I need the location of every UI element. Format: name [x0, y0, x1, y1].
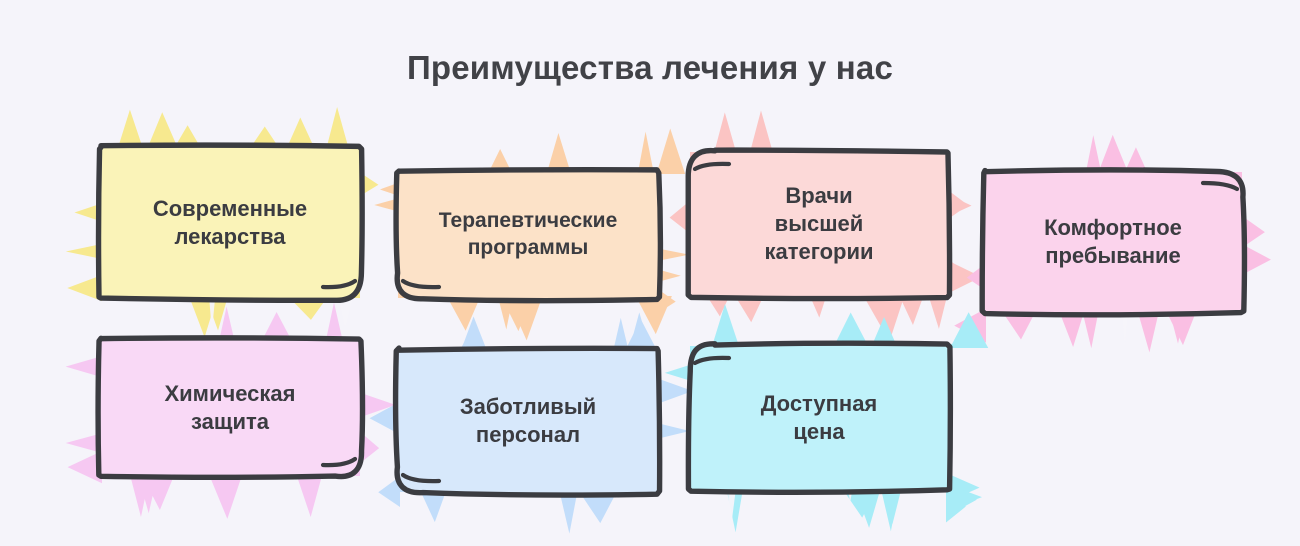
card-frame-dostupnaya-tsena: [686, 342, 952, 494]
benefit-card-vrachi-vysshey-kategorii[interactable]: Врачи высшей категории: [686, 148, 952, 300]
page-title: Преимущества лечения у нас: [0, 48, 1300, 88]
card-frame-terapevticheskie-programmy: [394, 168, 662, 302]
benefit-card-himicheskaya-zashchita[interactable]: Химическая защита: [96, 336, 364, 480]
benefit-card-dostupnaya-tsena[interactable]: Доступная цена: [686, 342, 952, 494]
card-frame-komfortnoe-prebyvanie: [980, 168, 1246, 316]
benefit-card-komfortnoe-prebyvanie[interactable]: Комфортное пребывание: [980, 168, 1246, 316]
benefit-card-terapevticheskie-programmy[interactable]: Терапевтические программы: [394, 168, 662, 302]
card-frame-sovremennye-lekarstva: [96, 144, 364, 302]
card-frame-vrachi-vysshey-kategorii: [686, 148, 952, 300]
card-frame-himicheskaya-zashchita: [96, 336, 364, 480]
card-frame-zabotlivyy-personal: [394, 346, 662, 496]
benefit-card-zabotlivyy-personal[interactable]: Заботливый персонал: [394, 346, 662, 496]
infographic-canvas: Преимущества лечения у нас Современные л…: [0, 0, 1300, 546]
benefit-card-sovremennye-lekarstva[interactable]: Современные лекарства: [96, 144, 364, 302]
